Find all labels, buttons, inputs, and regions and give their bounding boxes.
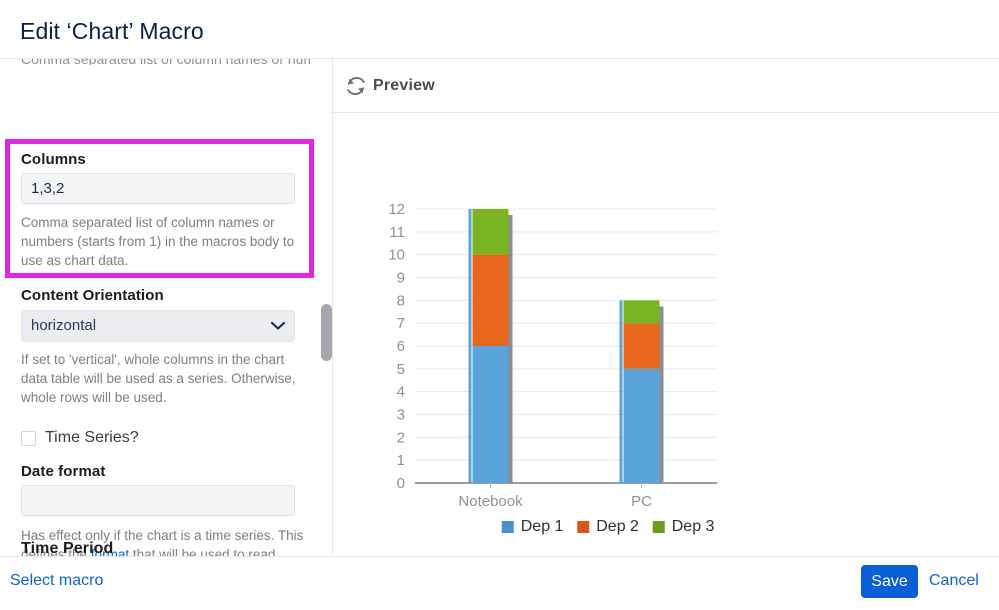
chevron-down-icon [271, 322, 285, 331]
legend-label[interactable]: Dep 2 [596, 518, 639, 535]
time-period-label: Time Period [21, 540, 113, 557]
refresh-icon[interactable] [345, 75, 367, 97]
time-series-checkbox[interactable] [21, 431, 36, 446]
preview-panel: Preview 0123456789101112NotebookPCDep 1D… [333, 59, 999, 557]
y-tick-label: 3 [397, 407, 405, 424]
date-format-input[interactable] [21, 485, 295, 516]
columns-input[interactable] [21, 173, 295, 204]
legend-swatch [577, 521, 589, 533]
preview-label: Preview [373, 77, 435, 95]
bar-segment[interactable] [624, 323, 660, 369]
y-tick-label: 2 [397, 429, 405, 446]
legend-swatch [653, 521, 665, 533]
x-tick-label: PC [631, 493, 652, 510]
y-tick-label: 4 [397, 384, 405, 401]
macro-parameters-form: Comma separated list of column names or … [0, 59, 332, 557]
chart-stage: 0123456789101112NotebookPCDep 1Dep 2Dep … [333, 113, 999, 557]
time-series-label: Time Series? [45, 429, 139, 447]
cancel-link[interactable]: Cancel [929, 572, 979, 590]
y-tick-label: 10 [388, 247, 405, 264]
legend-label[interactable]: Dep 3 [672, 518, 715, 535]
preview-header: Preview [333, 59, 999, 113]
form-scrollbar-thumb[interactable] [321, 304, 332, 361]
content-orientation-value: horizontal [31, 317, 96, 334]
stacked-bar-chart: 0123456789101112NotebookPCDep 1Dep 2Dep … [333, 113, 999, 557]
content-orientation-select[interactable]: horizontal [21, 310, 295, 342]
dialog-body: Comma separated list of column names or … [0, 59, 999, 557]
columns-label: Columns [21, 151, 86, 168]
clipped-help-text: Comma separated list of column names or … [21, 59, 311, 65]
time-series-checkbox-row[interactable]: Time Series? [21, 429, 139, 447]
bar-segment[interactable] [624, 300, 660, 323]
y-tick-label: 9 [397, 270, 405, 287]
select-macro-link[interactable]: Select macro [10, 572, 103, 590]
content-orientation-label: Content Orientation [21, 287, 164, 304]
bar-edge-highlight [620, 300, 623, 483]
y-tick-label: 12 [388, 201, 405, 218]
bar-segment[interactable] [624, 369, 660, 483]
y-tick-label: 5 [397, 361, 405, 378]
y-tick-label: 1 [397, 452, 405, 469]
y-tick-label: 7 [397, 315, 405, 332]
y-tick-label: 8 [397, 292, 405, 309]
y-tick-label: 0 [397, 475, 405, 492]
content-orientation-help-text: If set to 'vertical', whole columns in t… [21, 350, 303, 407]
bar-segment[interactable] [473, 255, 509, 346]
edit-chart-macro-dialog: Edit ‘Chart’ Macro Comma separated list … [0, 0, 999, 610]
x-tick-label: Notebook [458, 493, 523, 510]
bar-segment[interactable] [473, 346, 509, 483]
dialog-title: Edit ‘Chart’ Macro [20, 18, 204, 45]
date-format-label: Date format [21, 463, 105, 480]
columns-help-text: Comma separated list of column names or … [21, 213, 301, 270]
dialog-footer: Select macro Save Cancel [0, 557, 999, 610]
save-button[interactable]: Save [861, 565, 918, 598]
legend-swatch [502, 521, 514, 533]
y-tick-label: 6 [397, 338, 405, 355]
y-tick-label: 11 [389, 224, 405, 241]
bar-segment[interactable] [473, 209, 509, 255]
legend-label[interactable]: Dep 1 [521, 518, 564, 535]
bar-edge-highlight [469, 209, 472, 483]
